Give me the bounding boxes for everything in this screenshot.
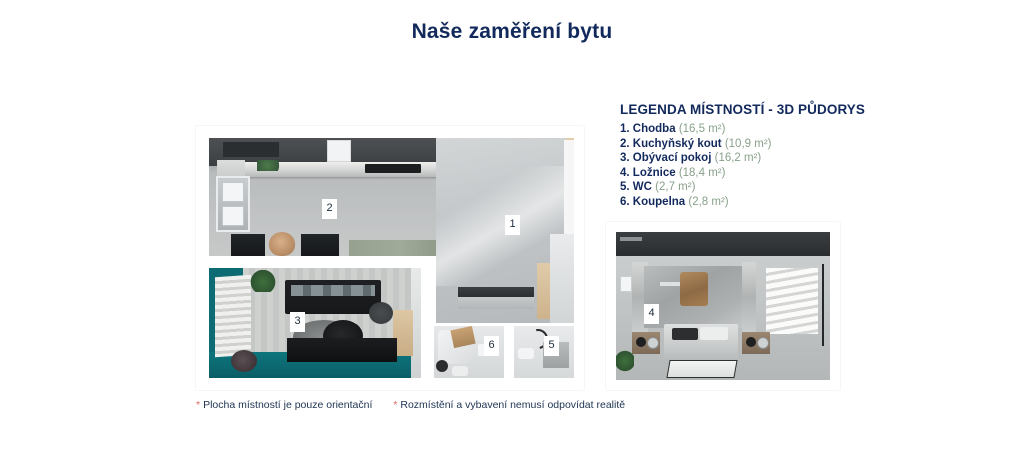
legend-heading: LEGENDA MÍSTNOSTÍ - 3D PŮDORYS (620, 102, 885, 117)
bedroom-nightstand-left-icon (632, 332, 660, 354)
room-living (209, 268, 421, 378)
footnote-furniture-disclaimer-text: Rozmístění a vybavení nemusí odpovídat r… (400, 399, 625, 411)
floorplan-bedroom-block: 4 (606, 222, 840, 390)
kitchen-hood-icon (327, 140, 351, 162)
bedroom-marble-right-icon (742, 262, 756, 332)
bedroom-bed-icon (664, 324, 738, 364)
footnote-furniture-disclaimer: *Rozmístění a vybavení nemusí odpovídat … (393, 399, 625, 411)
room-number-wc: 5 (544, 336, 559, 356)
hallway-bench-icon (458, 287, 534, 309)
room-number-kitchen: 2 (322, 199, 337, 219)
bedroom-blinds-icon (766, 268, 818, 334)
kitchen-window-icon (216, 176, 250, 232)
hallway-wood-column-icon (537, 263, 550, 319)
living-tv-unit-icon (287, 338, 397, 362)
footnote-star-icon-2: * (393, 399, 397, 411)
bedroom-beam-slot-icon (620, 237, 642, 241)
hallway-door-frame-icon (564, 140, 574, 236)
kitchen-base-cabinet-b-icon (301, 234, 339, 256)
living-plant-icon (249, 270, 277, 292)
kitchen-stove-icon (365, 164, 421, 173)
wc-bowl-icon (518, 348, 534, 359)
bedroom-nightstand-right-icon (742, 332, 770, 354)
bedroom-switch-icon (620, 276, 632, 292)
living-ottoman-icon (231, 350, 257, 372)
bedroom-nightstand-right-knob-icon (746, 337, 756, 347)
living-sofa-icon (285, 280, 381, 314)
room-number-bedroom: 4 (644, 304, 659, 324)
bedroom-curtain-rod-icon (822, 264, 824, 346)
page-title: Naše zaměření bytu (0, 20, 1024, 44)
footnote-area-disclaimer: *Plocha místností je pouze orientační (196, 399, 372, 411)
floorplan-main-block: 2 1 3 6 5 (196, 126, 584, 390)
room-number-hallway: 1 (505, 215, 520, 235)
bedroom-pillow-dark-icon (672, 328, 698, 340)
kitchen-cabinet-dark-icon (223, 142, 279, 157)
footnote-area-disclaimer-text: Plocha místností je pouze orientační (203, 399, 372, 411)
bedroom-plant-icon (616, 348, 634, 374)
bathroom-toilet-icon (452, 366, 468, 376)
footnote-star-icon-1: * (196, 399, 200, 411)
footnotes: *Plocha místností je pouze orientační *R… (196, 399, 856, 411)
kitchen-base-cabinet-a-icon (231, 234, 265, 256)
bedroom-nightstand-left-lamp-icon (647, 337, 659, 349)
bedroom-nightstand-left-knob-icon (636, 337, 646, 347)
living-side-table-icon (369, 302, 393, 324)
kitchen-vase-icon (269, 232, 295, 256)
bedroom-rug-icon (666, 360, 737, 378)
living-cushions-icon (291, 285, 375, 296)
kitchen-plant-icon (257, 160, 283, 171)
room-number-bathroom: 6 (484, 336, 499, 356)
living-blinds-icon (215, 275, 251, 358)
bedroom-wall-art-icon (680, 272, 708, 306)
hallway-right-wall-icon (550, 234, 574, 323)
room-number-living: 3 (290, 312, 305, 332)
bathroom-fixture-icon (436, 360, 448, 372)
bedroom-ceiling-beam-icon (616, 232, 830, 256)
floorplan-3d-render: 2 1 3 6 5 (196, 126, 840, 390)
bedroom-pillow-light-icon (700, 327, 728, 340)
bedroom-nightstand-right-lamp-icon (757, 337, 769, 349)
